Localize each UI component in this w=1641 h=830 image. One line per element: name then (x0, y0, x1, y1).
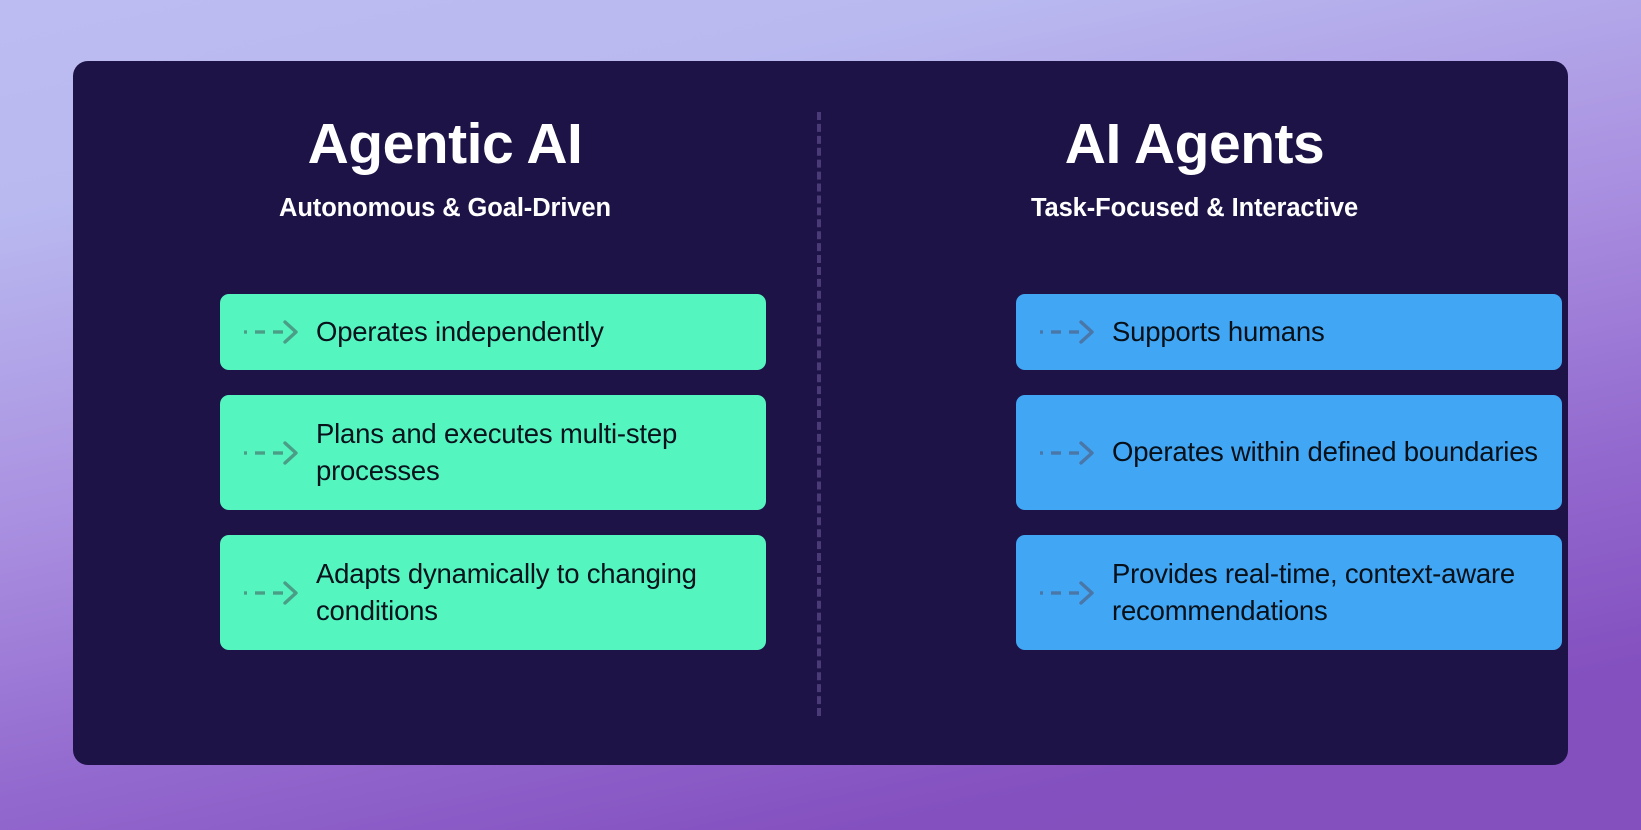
column-title-agentic-ai: Agentic AI (73, 115, 817, 175)
column-subtitle-ai-agents: Task-Focused & Interactive (821, 194, 1568, 223)
column-ai-agents: AI Agents Task-Focused & Interactive Sup… (821, 61, 1568, 765)
column-subtitle-agentic-ai: Autonomous & Goal-Driven (73, 194, 817, 223)
dashed-arrow-right-icon (242, 441, 299, 465)
column-header-ai-agents: AI Agents Task-Focused & Interactive (821, 115, 1568, 223)
feature-pill-label: Provides real-time, context-aware recomm… (1112, 556, 1544, 629)
feature-pill[interactable]: Plans and executes multi-step processes (220, 395, 766, 510)
feature-pill-label: Operates within defined boundaries (1112, 434, 1538, 471)
feature-list-agentic-ai: Operates independently Plans and execute… (220, 294, 766, 675)
feature-pill[interactable]: Adapts dynamically to changing condition… (220, 535, 766, 650)
dashed-arrow-right-icon (242, 320, 299, 344)
feature-pill-label: Adapts dynamically to changing condition… (316, 556, 748, 629)
column-header-agentic-ai: Agentic AI Autonomous & Goal-Driven (73, 115, 817, 223)
dashed-arrow-right-icon (1038, 320, 1095, 344)
column-agentic-ai: Agentic AI Autonomous & Goal-Driven Oper… (73, 61, 817, 765)
infographic-stage: Agentic AI Autonomous & Goal-Driven Oper… (0, 0, 1641, 830)
feature-pill-label: Supports humans (1112, 314, 1325, 351)
column-title-ai-agents: AI Agents (821, 115, 1568, 175)
dashed-arrow-right-icon (242, 581, 299, 605)
dashed-arrow-right-icon (1038, 441, 1095, 465)
dashed-arrow-right-icon (1038, 581, 1095, 605)
feature-list-ai-agents: Supports humans Operates within defined … (1016, 294, 1562, 675)
comparison-card: Agentic AI Autonomous & Goal-Driven Oper… (73, 61, 1568, 765)
feature-pill-label: Operates independently (316, 314, 604, 351)
feature-pill[interactable]: Provides real-time, context-aware recomm… (1016, 535, 1562, 650)
feature-pill[interactable]: Operates independently (220, 294, 766, 370)
feature-pill[interactable]: Supports humans (1016, 294, 1562, 370)
feature-pill-label: Plans and executes multi-step processes (316, 416, 748, 489)
feature-pill[interactable]: Operates within defined boundaries (1016, 395, 1562, 510)
